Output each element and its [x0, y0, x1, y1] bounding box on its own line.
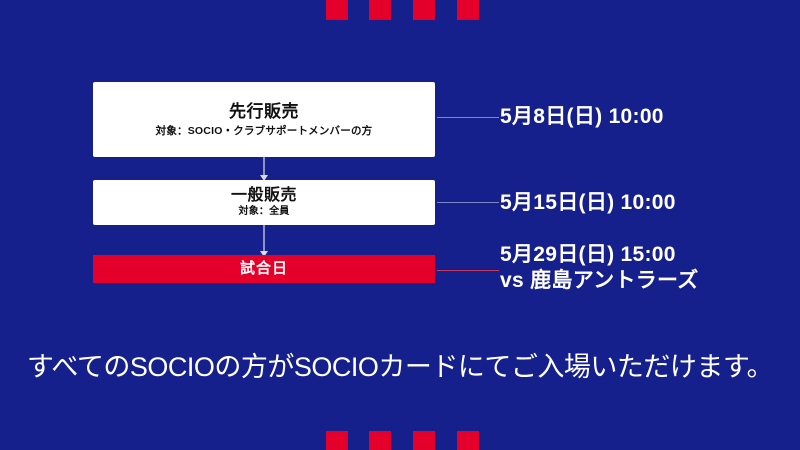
step-box-general-sale: 一般販売 対象：全員 — [93, 180, 435, 225]
date-match-day: 5月29日(日) 15:00 vs 鹿島アントラーズ — [500, 242, 699, 295]
decoration-bar-3 — [413, 0, 435, 20]
connector-horizontal-3 — [437, 270, 499, 271]
bottom-decoration-bars — [0, 431, 800, 450]
connector-vertical-1 — [263, 157, 265, 176]
decoration-bar-1 — [326, 431, 348, 450]
step-title: 試合日 — [240, 260, 288, 277]
step-subtitle: 対象：全員 — [239, 206, 290, 218]
step-title: 一般販売 — [231, 187, 297, 205]
step-box-match-day: 試合日 — [93, 255, 435, 283]
connector-vertical-2 — [263, 225, 265, 252]
footer-headline: すべてのSOCIOの方がSOCIOカードにてご入場いただけます。 — [0, 345, 800, 384]
decoration-bar-2 — [369, 431, 391, 450]
decoration-bar-3 — [413, 431, 435, 450]
connector-horizontal-2 — [437, 202, 499, 203]
top-decoration-bars — [0, 0, 800, 20]
step-box-presale: 先行販売 対象：SOCIO・クラブサポートメンバーの方 — [93, 82, 435, 157]
date-presale: 5月8日(日) 10:00 — [500, 104, 664, 130]
date-general-sale: 5月15日(日) 10:00 — [500, 190, 676, 216]
decoration-bar-2 — [369, 0, 391, 20]
step-title: 先行販売 — [229, 102, 299, 122]
connector-horizontal-1 — [437, 117, 499, 118]
match-opponent: vs 鹿島アントラーズ — [500, 268, 699, 294]
decoration-bar-4 — [457, 431, 479, 450]
decoration-bar-1 — [326, 0, 348, 20]
match-datetime: 5月29日(日) 15:00 — [500, 243, 676, 266]
decoration-bar-4 — [457, 0, 479, 20]
step-subtitle: 対象：SOCIO・クラブサポートメンバーの方 — [156, 125, 373, 137]
